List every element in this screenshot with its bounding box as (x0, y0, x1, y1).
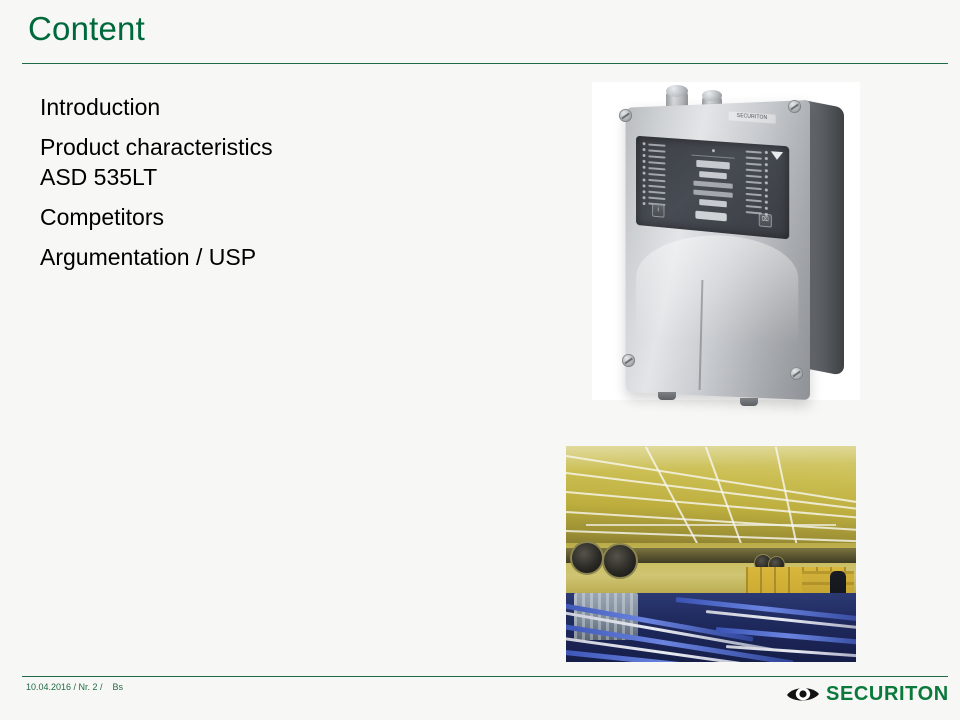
info-button-icon: i (652, 204, 664, 218)
led-label (746, 150, 762, 153)
led-indicator (643, 148, 646, 151)
panel-center-display (686, 147, 741, 208)
led-label (648, 149, 665, 152)
led-label (648, 185, 665, 188)
led-row (746, 168, 768, 173)
led-indicator (765, 169, 768, 172)
led-row (643, 148, 666, 153)
led-row (746, 162, 768, 167)
led-indicator (765, 163, 768, 166)
led-row (643, 172, 666, 177)
device-side-panel (804, 100, 844, 376)
led-label (746, 181, 762, 184)
device-display-panel: i ⌧ (636, 136, 789, 240)
led-label (648, 173, 665, 176)
led-indicator (643, 196, 646, 199)
led-row (746, 180, 768, 185)
led-row (643, 142, 666, 147)
led-indicator (643, 166, 646, 169)
led-label (746, 156, 762, 159)
led-indicator (765, 188, 768, 191)
footer-divider (22, 676, 948, 677)
eye-icon (786, 684, 820, 704)
housing-cable-gland (740, 398, 758, 406)
slide-canvas: Content Introduction Product characteris… (0, 0, 960, 720)
ceiling-rail (586, 524, 836, 526)
led-column-left (643, 142, 666, 207)
evaporator-fan (602, 543, 638, 579)
pipe-cap-right (702, 90, 722, 101)
pipe-cap-left (666, 85, 688, 97)
led-row (746, 174, 768, 179)
warehouse-illustration (566, 446, 856, 662)
led-row (643, 196, 666, 201)
led-row (746, 199, 768, 204)
housing-screw-icon (788, 100, 801, 113)
list-item: Introduction (40, 92, 520, 122)
led-label (648, 191, 665, 194)
panel-text-line (699, 171, 727, 179)
securiton-logo: SECURITON (786, 684, 949, 704)
panel-action-bar (695, 210, 726, 221)
title-divider (22, 63, 948, 64)
list-item: Argumentation / USP (40, 242, 520, 272)
led-row (746, 149, 768, 154)
cold-store-warehouse-photo (566, 446, 856, 662)
led-indicator (765, 206, 768, 209)
led-indicator (765, 176, 768, 179)
led-indicator (765, 200, 768, 203)
led-indicator (643, 160, 646, 163)
led-label (746, 175, 762, 178)
led-label (648, 155, 665, 158)
asd-535lt-device-photo: SECURITON (592, 82, 860, 400)
led-label (746, 187, 762, 190)
led-label (746, 168, 762, 171)
led-row (746, 186, 768, 191)
led-row (643, 154, 666, 159)
housing-screw-icon (619, 109, 632, 122)
panel-divider (691, 155, 734, 159)
led-row (643, 160, 666, 165)
led-label (746, 205, 762, 208)
led-label (648, 167, 665, 170)
led-indicator (643, 184, 646, 187)
led-row (643, 190, 666, 195)
led-label (746, 193, 762, 196)
housing-screw-icon (790, 367, 803, 380)
led-row (746, 205, 768, 210)
led-label (648, 179, 665, 182)
led-indicator (765, 194, 768, 197)
led-row (746, 193, 768, 198)
led-label (746, 199, 762, 202)
footer-meta: 10.04.2016 / Nr. 2 / Bs (26, 681, 123, 694)
evaporator-fan (570, 541, 604, 575)
led-indicator (643, 142, 646, 145)
led-indicator (765, 157, 768, 160)
panel-text-line (693, 181, 732, 189)
led-row (746, 156, 768, 161)
led-row (643, 184, 666, 189)
led-row (643, 178, 666, 183)
led-label (746, 162, 762, 165)
led-row (643, 166, 666, 171)
content-list: Introduction Product characteristics ASD… (40, 92, 520, 282)
panel-text-line (696, 160, 729, 170)
led-label (648, 197, 665, 200)
device-illustration: SECURITON (592, 82, 860, 400)
led-label (648, 161, 665, 164)
logo-wordmark: SECURITON (826, 684, 949, 704)
list-item: Product characteristics ASD 535LT (40, 132, 520, 192)
led-indicator (765, 213, 768, 216)
led-indicator (643, 154, 646, 157)
led-indicator (765, 182, 768, 185)
page-title: Content (28, 9, 145, 49)
housing-screw-icon (622, 354, 635, 367)
led-indicator (643, 190, 646, 193)
led-indicator (765, 151, 768, 154)
panel-text-line (699, 199, 727, 207)
led-column-right (746, 149, 768, 216)
led-label (648, 143, 665, 146)
led-indicator (643, 172, 646, 175)
led-indicator (643, 178, 646, 181)
housing-cable-gland (658, 392, 676, 400)
panel-arrow-icon (771, 151, 783, 160)
panel-text-line (693, 190, 732, 198)
list-item: Competitors (40, 202, 520, 232)
status-led (711, 149, 714, 152)
